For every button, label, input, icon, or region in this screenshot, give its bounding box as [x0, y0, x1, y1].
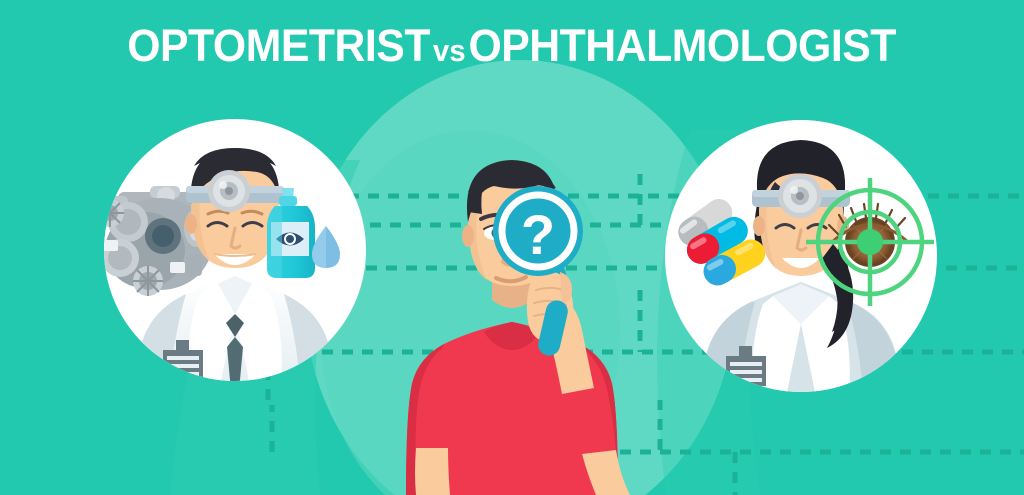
question-mark: ? [521, 203, 555, 266]
magnifying-glass: ? [493, 186, 583, 276]
patient-figure: ? [0, 0, 1024, 495]
infographic-banner: ? OPTOMETRISTvsOPHTHALMOLOGIST [0, 0, 1024, 495]
